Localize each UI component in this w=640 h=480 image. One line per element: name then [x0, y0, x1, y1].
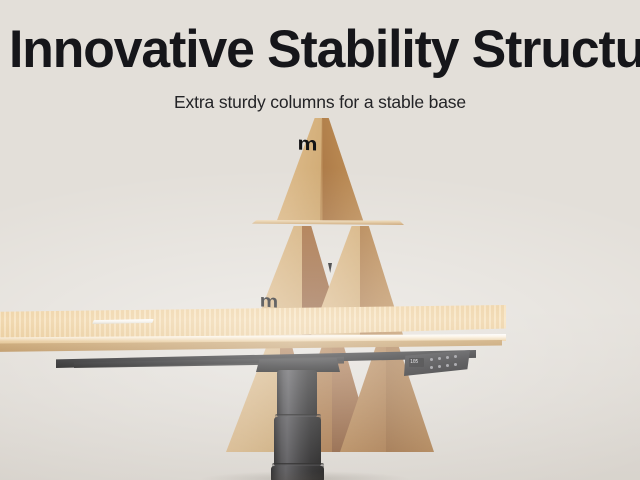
- keypad-button-1[interactable]: [430, 358, 433, 361]
- standing-desk: 105: [0, 100, 640, 480]
- product-photo: m m: [0, 100, 640, 480]
- keypad-button-2[interactable]: [438, 357, 441, 360]
- page-title: Innovative Stability Structure: [9, 22, 617, 78]
- desk-column-segment-middle: [274, 417, 321, 467]
- keypad-button-up[interactable]: [430, 366, 433, 369]
- keypad-button-4[interactable]: [454, 355, 457, 358]
- product-banner: m m: [0, 0, 640, 480]
- desk-column-segment-bottom: [271, 466, 324, 480]
- keypad-button-m[interactable]: [446, 364, 449, 367]
- keypad-button-power[interactable]: [454, 363, 457, 366]
- keypad-button-down[interactable]: [438, 365, 441, 368]
- page-subtitle: Extra sturdy columns for a stable base: [0, 91, 640, 113]
- desk-column-segment-top: [277, 370, 317, 418]
- keypad-button-3[interactable]: [446, 356, 449, 359]
- keypad-display-value: 105: [410, 360, 418, 365]
